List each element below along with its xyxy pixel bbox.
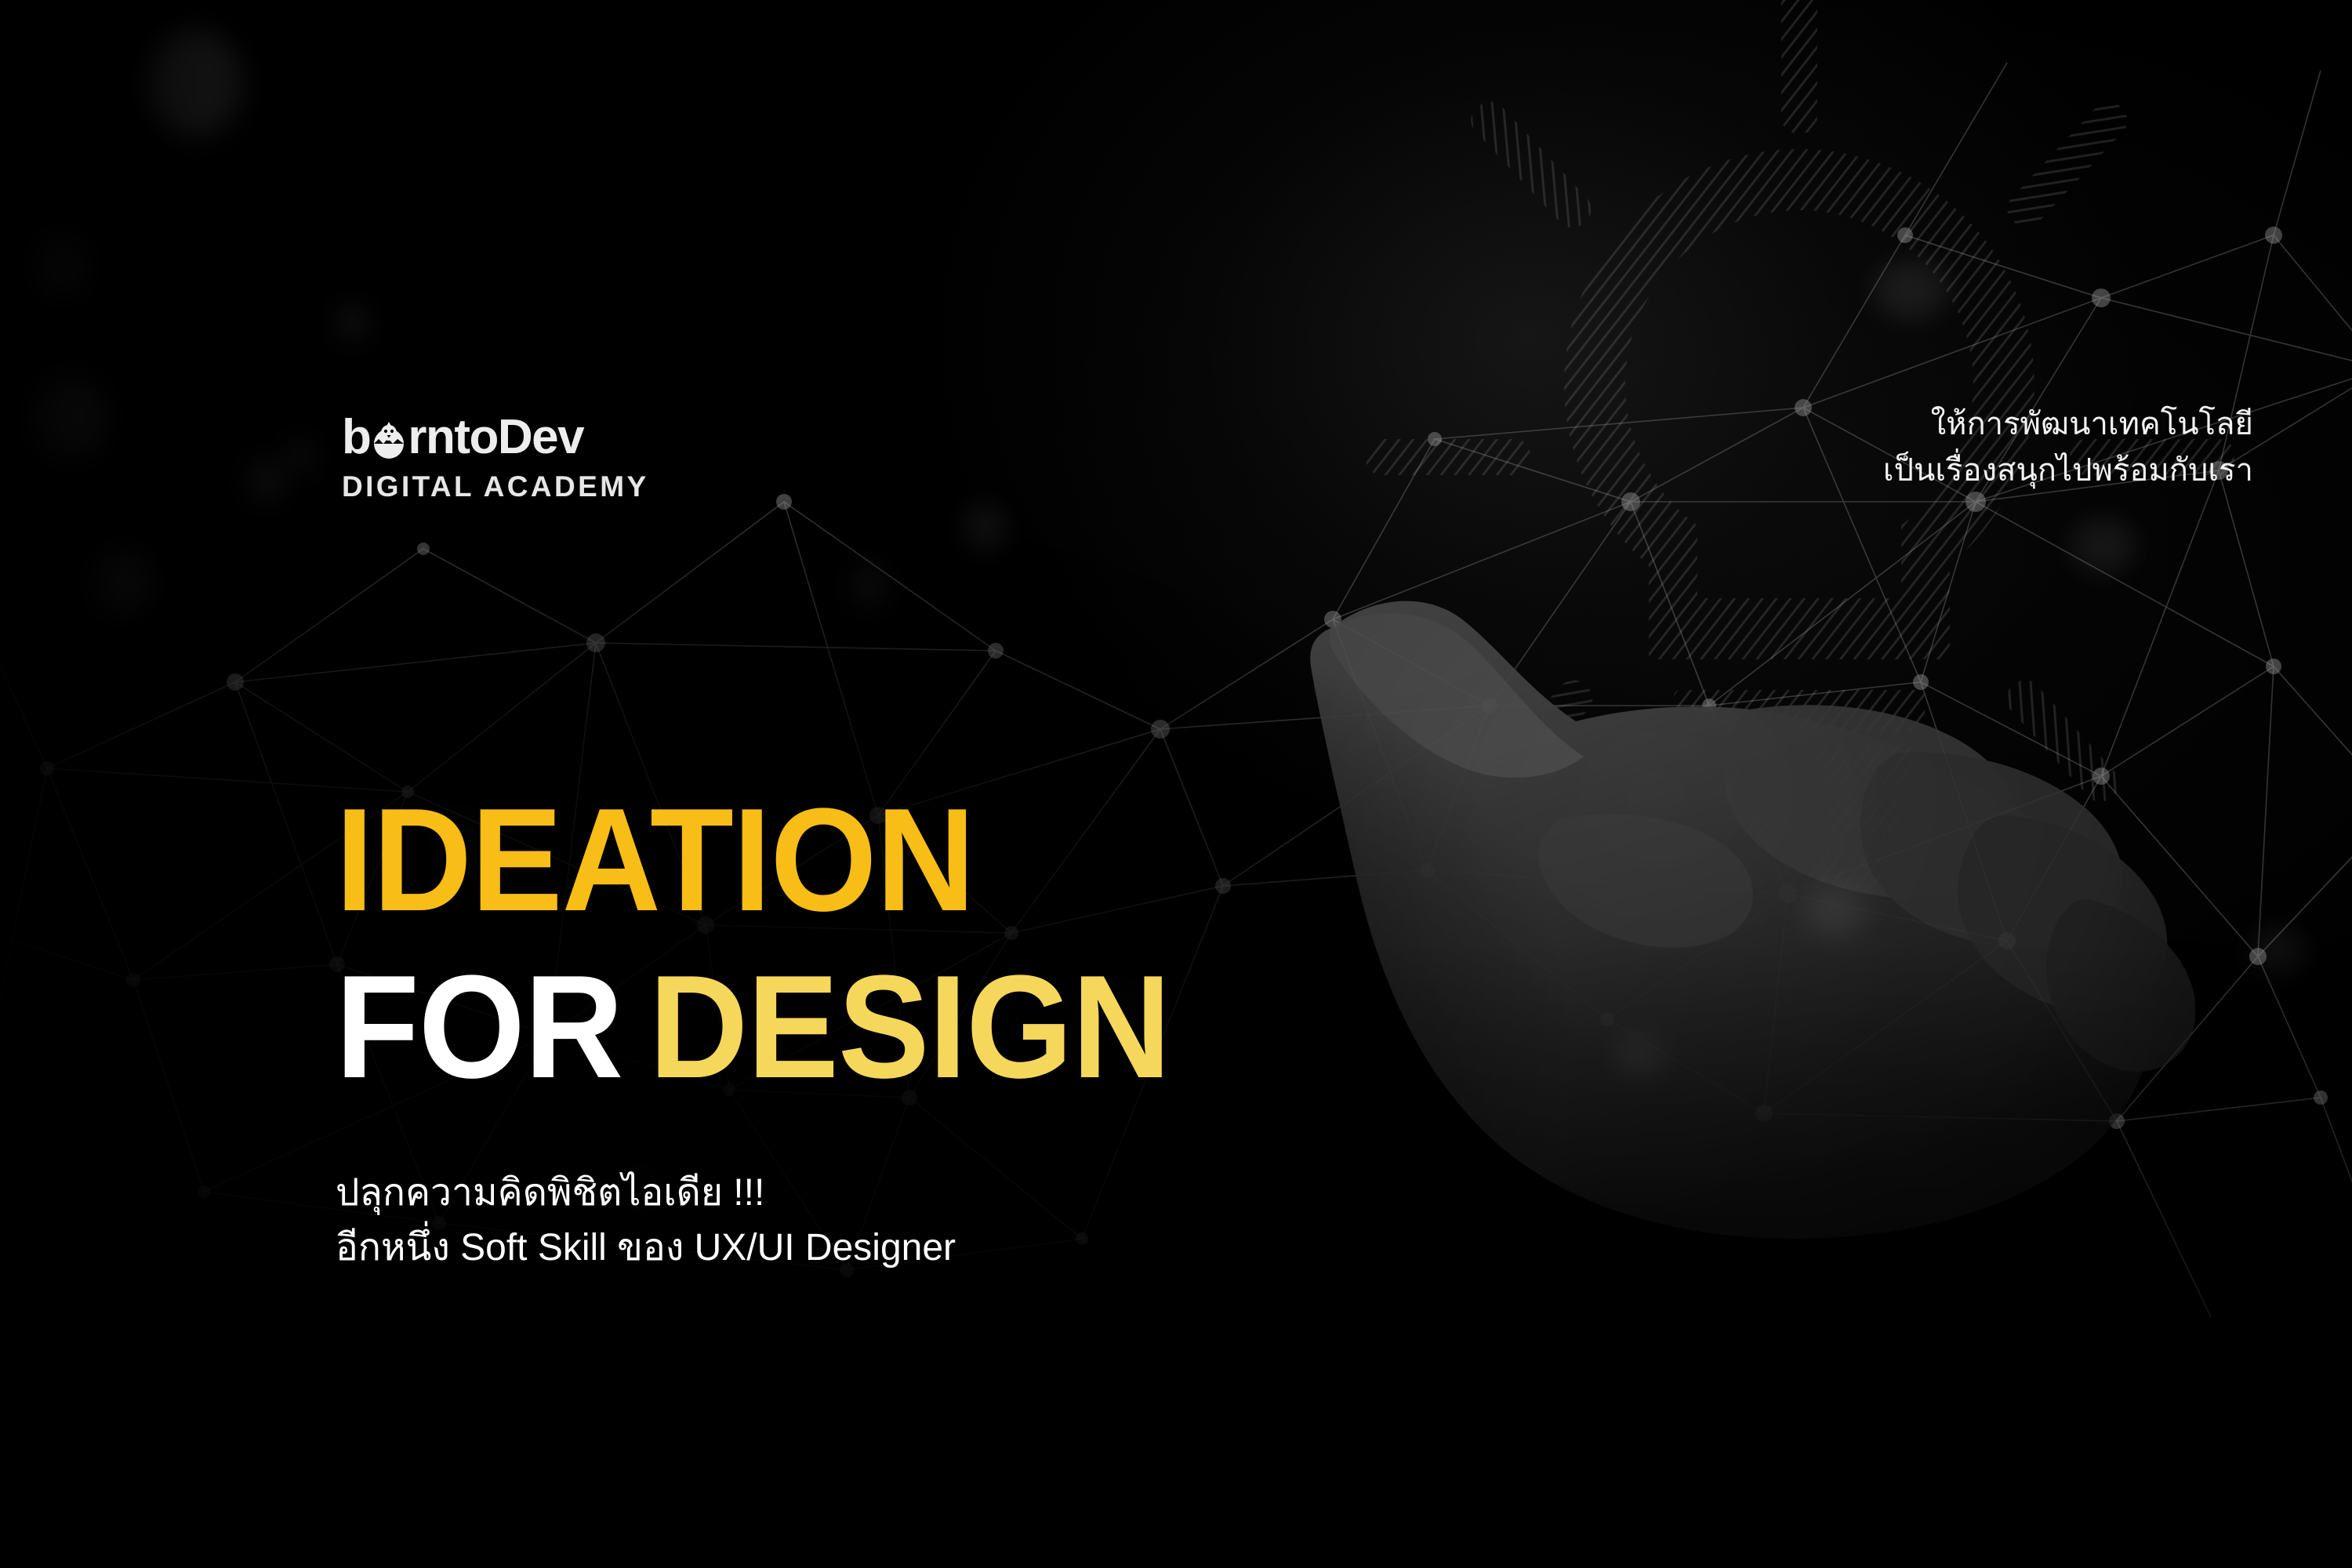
logo-wordmark: b rntoDev [342,413,649,462]
headline-line-2: FORDESIGN [336,957,1171,1098]
headline-word-design: DESIGN [649,945,1171,1109]
logo-wordmark-part1: b [342,413,370,462]
headline-word-for: FOR [336,945,622,1109]
tagline: ให้การพัฒนาเทคโนโลยี เป็นเรื่องสนุกไปพร้… [1883,401,2253,494]
logo[interactable]: b rntoDev [342,413,649,501]
logo-wordmark-part2: rntoDev [408,413,583,462]
logo-subtitle: DIGITAL ACADEMY [342,472,649,501]
banner-root: b rntoDev [0,0,2352,1568]
headline-line-1: IDEATION [336,790,1171,931]
chick-in-egg-icon [371,419,407,459]
subtitle-line-1: ปลุกความคิดพิชิตไอเดีย !!! [336,1166,956,1221]
subtitle-line-2: อีกหนึ่ง Soft Skill ของ UX/UI Designer [336,1221,956,1276]
tagline-line-1: ให้การพัฒนาเทคโนโลยี [1883,401,2253,448]
subtitle: ปลุกความคิดพิชิตไอเดีย !!! อีกหนึ่ง Soft… [336,1166,956,1276]
tagline-line-2: เป็นเรื่องสนุกไปพร้อมกับเรา [1883,448,2253,494]
page-title: IDEATION FORDESIGN [336,790,1229,1097]
